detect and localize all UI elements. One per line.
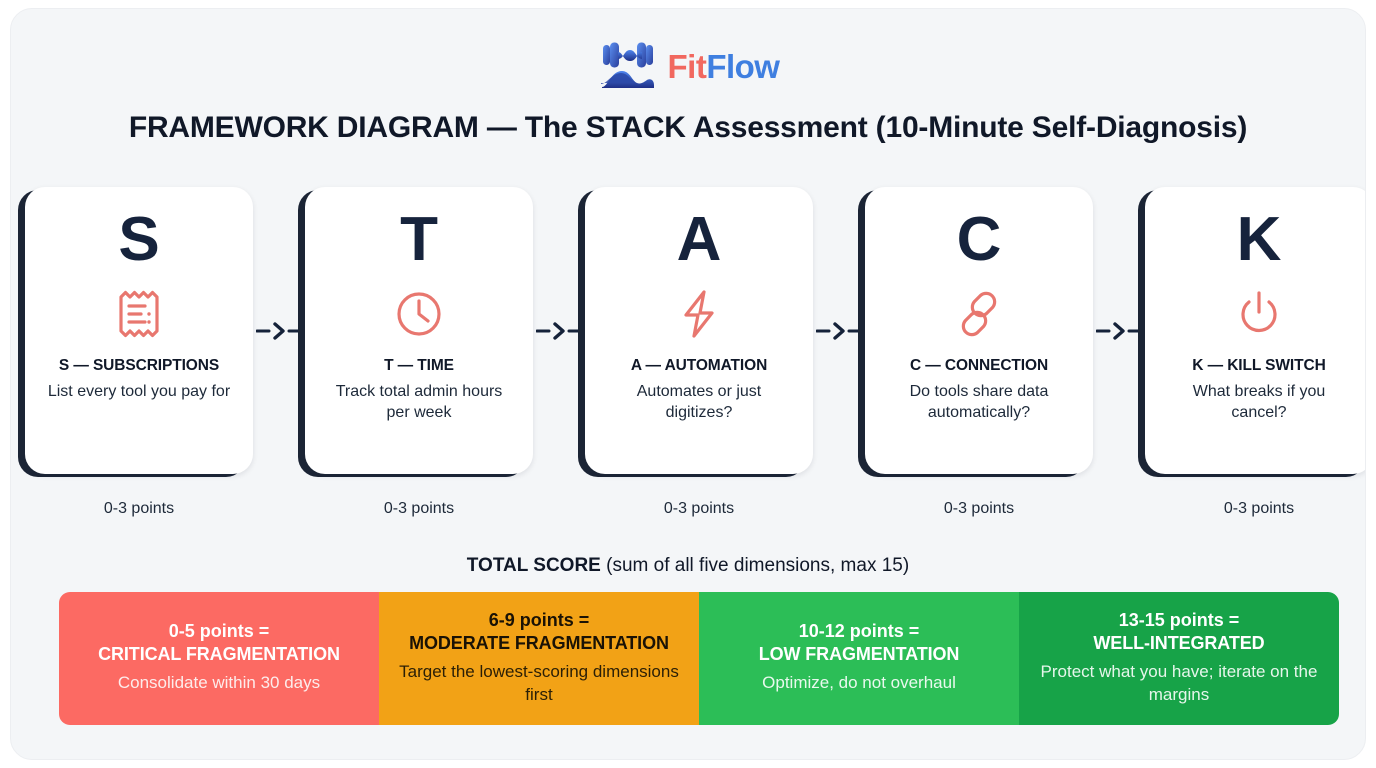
score-band-low[interactable]: 10-12 points = LOW FRAGMENTATION Optimiz… bbox=[699, 592, 1019, 725]
score-band-label-0: CRITICAL FRAGMENTATION bbox=[98, 643, 340, 666]
lightning-bolt-icon bbox=[677, 287, 721, 341]
card-points-a: 0-3 points bbox=[664, 500, 734, 518]
card-description-t: Track total admin hours per week bbox=[324, 381, 514, 423]
stack-card-s[interactable]: S S — SUBSCRIPTIONS List every tool you … bbox=[25, 187, 253, 474]
card-points-c: 0-3 points bbox=[944, 500, 1014, 518]
score-band-label-1: MODERATE FRAGMENTATION bbox=[409, 632, 669, 655]
score-band-range-3: 13-15 points = bbox=[1119, 609, 1240, 632]
score-band-advice-2: Optimize, do not overhaul bbox=[762, 672, 956, 694]
brand-name-part2: Flow bbox=[706, 48, 779, 85]
score-band-range-2: 10-12 points = bbox=[799, 620, 920, 643]
score-band-advice-3: Protect what you have; iterate on the ma… bbox=[1027, 661, 1331, 705]
card-heading-s: S — SUBSCRIPTIONS bbox=[59, 357, 219, 375]
stack-cards-row: S S — SUBSCRIPTIONS List every tool you … bbox=[49, 187, 1349, 518]
score-band-moderate[interactable]: 6-9 points = MODERATE FRAGMENTATION Targ… bbox=[379, 592, 699, 725]
brand-logo: FitFlow bbox=[11, 40, 1365, 92]
stack-card-a[interactable]: A A — AUTOMATION Automates or just digit… bbox=[585, 187, 813, 474]
card-description-c: Do tools share data automatically? bbox=[884, 381, 1074, 423]
receipt-icon bbox=[116, 287, 162, 341]
stack-card-k[interactable]: K K — KILL SWITCH What breaks if you can… bbox=[1145, 187, 1366, 474]
card-description-s: List every tool you pay for bbox=[44, 381, 234, 402]
card-heading-t: T — TIME bbox=[384, 357, 454, 375]
card-heading-a: A — AUTOMATION bbox=[631, 357, 767, 375]
card-heading-k: K — KILL SWITCH bbox=[1192, 357, 1325, 375]
score-band-range-1: 6-9 points = bbox=[489, 609, 590, 632]
card-points-s: 0-3 points bbox=[104, 500, 174, 518]
stack-column-t: T T — TIME Track total admin hours per w… bbox=[305, 187, 533, 518]
card-heading-c: C — CONNECTION bbox=[910, 357, 1048, 375]
stack-column-s: S S — SUBSCRIPTIONS List every tool you … bbox=[25, 187, 253, 518]
dumbbell-wave-logo-icon bbox=[597, 40, 659, 92]
score-band-label-2: LOW FRAGMENTATION bbox=[759, 643, 960, 666]
power-button-icon bbox=[1235, 287, 1283, 341]
page-title-strong: FRAMEWORK DIAGRAM — bbox=[129, 111, 517, 144]
card-letter-k: K bbox=[1237, 209, 1282, 271]
framework-diagram-page: FitFlow FRAMEWORK DIAGRAM — The STACK As… bbox=[0, 0, 1376, 768]
score-band-advice-1: Target the lowest-scoring dimensions fir… bbox=[387, 661, 691, 705]
card-letter-t: T bbox=[400, 209, 438, 271]
card-points-t: 0-3 points bbox=[384, 500, 454, 518]
stack-column-a: A A — AUTOMATION Automates or just digit… bbox=[585, 187, 813, 518]
chevron-right-icon-1 bbox=[253, 187, 305, 474]
stack-column-c: C C — CONNECTION Do tools share data aut… bbox=[865, 187, 1093, 518]
diagram-panel: FitFlow FRAMEWORK DIAGRAM — The STACK As… bbox=[10, 8, 1366, 760]
card-letter-s: S bbox=[118, 209, 159, 271]
page-title: FRAMEWORK DIAGRAM — The STACK Assessment… bbox=[11, 110, 1365, 146]
chevron-right-icon-3 bbox=[813, 187, 865, 474]
brand-name-part1: Fit bbox=[668, 48, 707, 85]
total-score-caption: TOTAL SCORE (sum of all five dimensions,… bbox=[11, 555, 1365, 578]
card-description-k: What breaks if you cancel? bbox=[1164, 381, 1354, 423]
score-bands: 0-5 points = CRITICAL FRAGMENTATION Cons… bbox=[59, 592, 1339, 725]
score-band-critical[interactable]: 0-5 points = CRITICAL FRAGMENTATION Cons… bbox=[59, 592, 379, 725]
chevron-right-icon-2 bbox=[533, 187, 585, 474]
card-description-a: Automates or just digitizes? bbox=[604, 381, 794, 423]
score-band-advice-0: Consolidate within 30 days bbox=[118, 672, 320, 694]
card-letter-a: A bbox=[677, 209, 722, 271]
card-letter-c: C bbox=[957, 209, 1002, 271]
chevron-right-icon-4 bbox=[1093, 187, 1145, 474]
total-score-note: (sum of all five dimensions, max 15) bbox=[601, 555, 909, 576]
stack-column-k: K K — KILL SWITCH What breaks if you can… bbox=[1145, 187, 1366, 518]
chain-link-icon bbox=[954, 287, 1004, 341]
card-points-k: 0-3 points bbox=[1224, 500, 1294, 518]
clock-icon bbox=[394, 287, 444, 341]
page-title-rest: The STACK Assessment (10-Minute Self-Dia… bbox=[517, 111, 1248, 144]
score-band-label-3: WELL-INTEGRATED bbox=[1093, 632, 1264, 655]
score-band-range-0: 0-5 points = bbox=[169, 620, 270, 643]
brand-name: FitFlow bbox=[668, 50, 780, 83]
stack-card-c[interactable]: C C — CONNECTION Do tools share data aut… bbox=[865, 187, 1093, 474]
score-band-well-integrated[interactable]: 13-15 points = WELL-INTEGRATED Protect w… bbox=[1019, 592, 1339, 725]
total-score-label: TOTAL SCORE bbox=[467, 555, 601, 576]
stack-card-t[interactable]: T T — TIME Track total admin hours per w… bbox=[305, 187, 533, 474]
